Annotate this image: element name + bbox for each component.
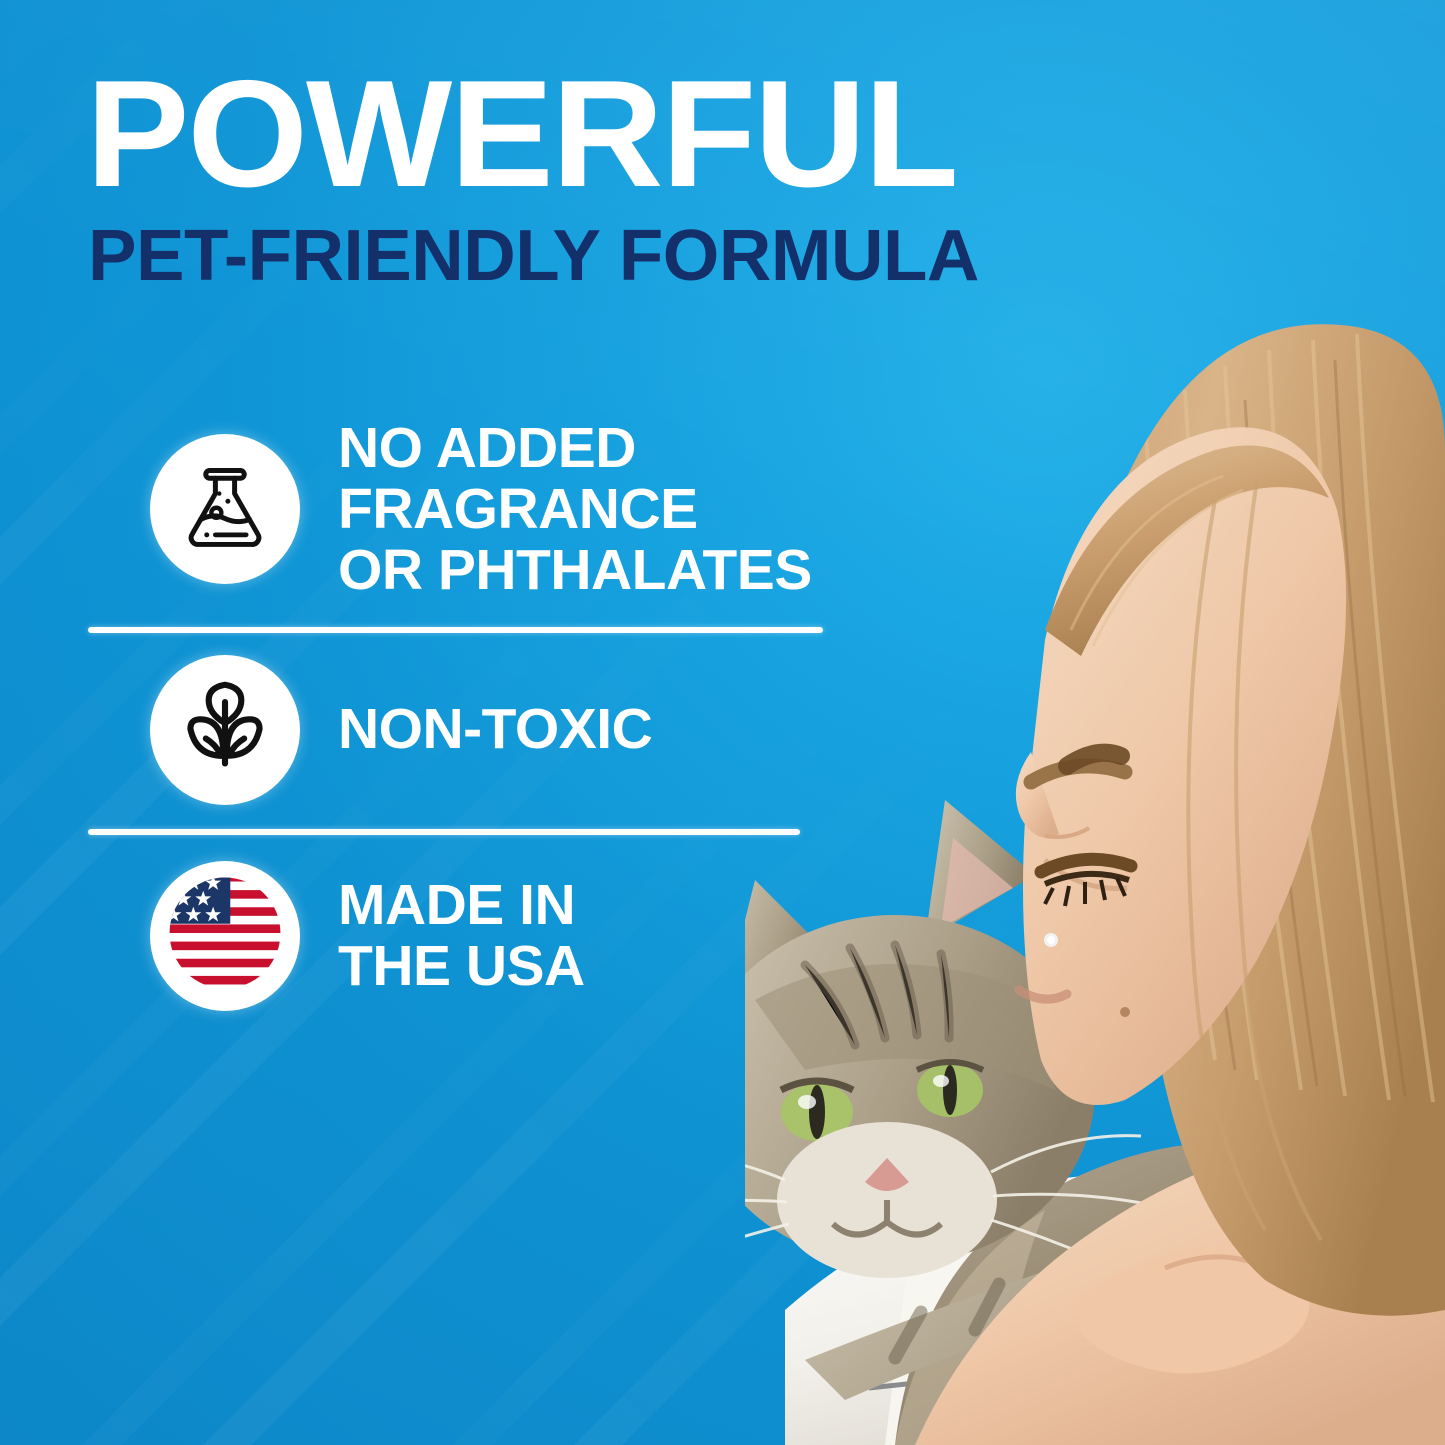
feature-item-made-in-usa: MADE IN THE USA — [0, 861, 900, 1011]
feature-badge — [150, 861, 300, 1011]
feature-badge — [150, 434, 300, 584]
feature-list: NO ADDED FRAGRANCE OR PHTHALATES — [0, 418, 900, 1011]
flask-icon — [177, 459, 273, 560]
page-subtitle: PET-FRIENDLY FORMULA — [88, 220, 979, 292]
feature-label: MADE IN THE USA — [338, 875, 585, 997]
feature-divider-2 — [88, 829, 800, 835]
leaf-plant-icon — [177, 679, 273, 780]
feature-label: NON-TOXIC — [338, 699, 652, 760]
page-title: POWERFUL — [86, 62, 988, 206]
product-feature-poster: POWERFUL PET-FRIENDLY FORMULA — [0, 0, 1445, 1445]
feature-item-no-added-fragrance: NO ADDED FRAGRANCE OR PHTHALATES — [0, 418, 900, 601]
headline-block: POWERFUL PET-FRIENDLY FORMULA — [86, 62, 970, 292]
feature-divider-1 — [88, 627, 823, 633]
feature-item-non-toxic: NON-TOXIC — [0, 655, 900, 805]
feature-badge — [150, 655, 300, 805]
usa-flag-icon — [159, 867, 291, 1004]
feature-label: NO ADDED FRAGRANCE OR PHTHALATES — [338, 418, 812, 601]
